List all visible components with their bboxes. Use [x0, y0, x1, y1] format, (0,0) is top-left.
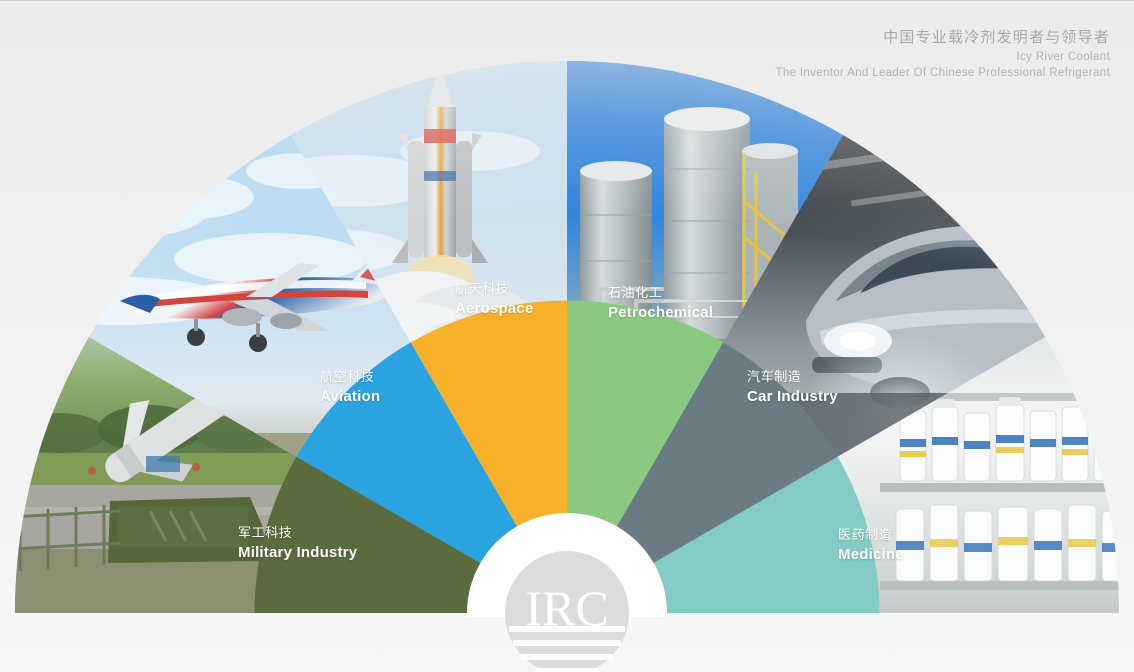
- brand-name-en: Icy River Coolant: [775, 50, 1110, 66]
- company-name-cn: 中国专业载冷剂发明者与领导者: [775, 27, 1110, 48]
- tagline-en: The Inventor And Leader Of Chinese Profe…: [775, 66, 1110, 82]
- header-branding: 中国专业载冷剂发明者与领导者 Icy River Coolant The Inv…: [775, 27, 1110, 81]
- industry-fan-chart: [0, 1, 1134, 672]
- infographic-stage: 中国专业载冷剂发明者与领导者 Icy River Coolant The Inv…: [0, 0, 1134, 672]
